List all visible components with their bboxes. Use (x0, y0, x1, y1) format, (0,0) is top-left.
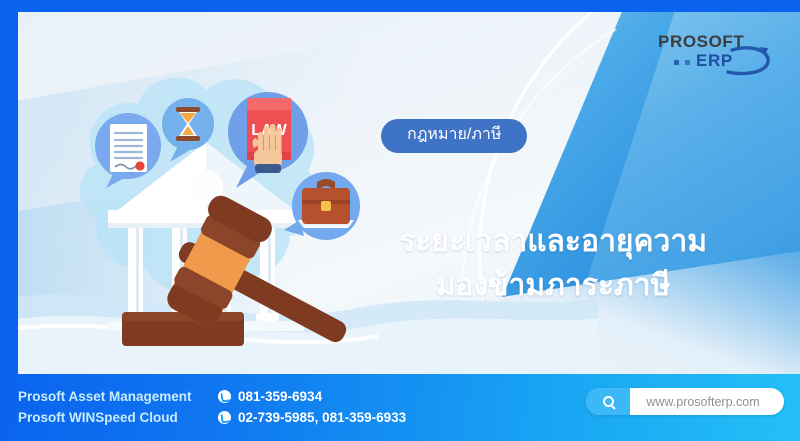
promo-banner: LAW (0, 0, 800, 441)
website-search-box[interactable]: www.prosofterp.com (586, 388, 784, 415)
category-badge[interactable]: กฎหมาย/ภาษี (381, 119, 527, 153)
product-name: Prosoft WINSpeed Cloud (18, 407, 218, 428)
logo-secondary-text: ERP (696, 51, 733, 71)
headline-line-1: ระยะเวลาและอายุความ (318, 220, 788, 264)
search-icon (603, 396, 614, 407)
phone-icon (218, 411, 231, 424)
headline-line-2: มองข้ามภาระภาษี (318, 264, 788, 308)
footer-contacts: Prosoft Asset Management 081-359-6934 Pr… (18, 386, 406, 428)
phone-icon (218, 390, 231, 403)
contact-row: Prosoft Asset Management 081-359-6934 (18, 386, 406, 407)
phone-number: 081-359-6934 (238, 386, 322, 407)
phone-number: 02-739-5985, 081-359-6933 (238, 407, 406, 428)
page-title: ระยะเวลาและอายุความ มองข้ามภาระภาษี (318, 220, 788, 309)
footer-bar: Prosoft Asset Management 081-359-6934 Pr… (0, 374, 800, 441)
contact-row: Prosoft WINSpeed Cloud 02-739-5985, 081-… (18, 407, 406, 428)
prosoft-erp-logo: PROSOFT ERP (658, 30, 776, 76)
stage-background: LAW (18, 12, 800, 374)
product-name: Prosoft Asset Management (18, 386, 218, 407)
website-url[interactable]: www.prosofterp.com (630, 395, 784, 409)
search-button[interactable] (586, 388, 630, 415)
logo-primary-text: PROSOFT (658, 32, 744, 52)
legal-illustration: LAW (36, 24, 396, 374)
logo-dot-1 (674, 60, 679, 65)
logo-dot-2 (685, 60, 690, 65)
